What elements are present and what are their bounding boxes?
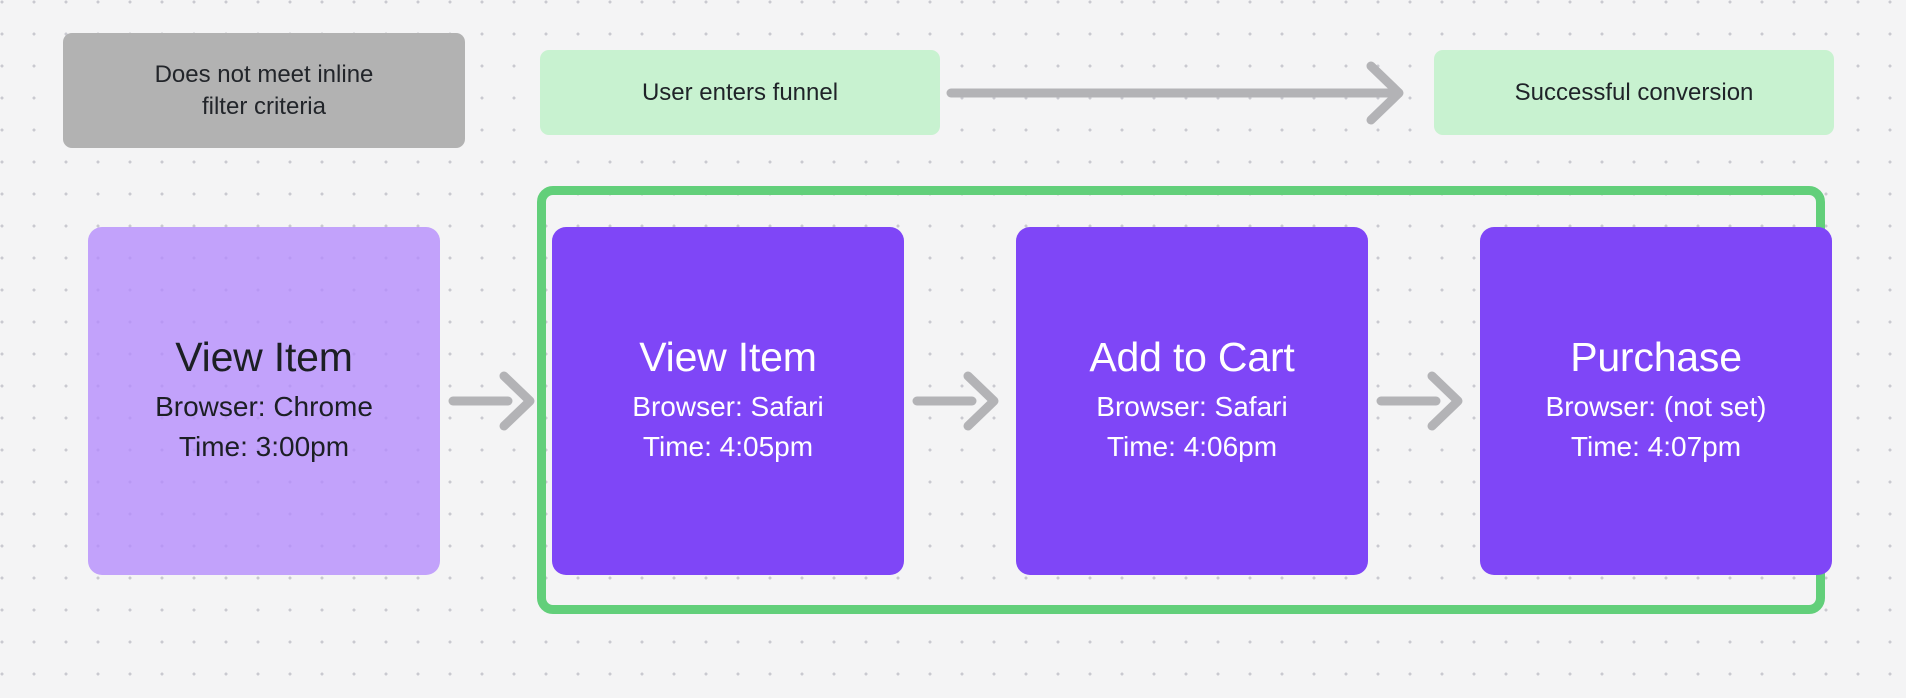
event-card-purchase[interactable]: Purchase Browser: (not set) Time: 4:07pm (1480, 227, 1832, 575)
event-card-view-item[interactable]: View Item Browser: Safari Time: 4:05pm (552, 227, 904, 575)
event-card-time: Time: 4:06pm (1107, 427, 1277, 467)
event-card-browser: Browser: Safari (632, 387, 823, 427)
legend-chip-excluded: Does not meet inline filter criteria (63, 33, 465, 148)
arrow-step-0-to-1-icon (448, 370, 536, 432)
arrow-step-2-to-3-icon (1376, 370, 1464, 432)
event-card-time: Time: 4:05pm (643, 427, 813, 467)
legend-flow-arrow-icon (946, 60, 1428, 126)
event-card-time: Time: 4:07pm (1571, 427, 1741, 467)
diagram-canvas: Does not meet inline filter criteria Use… (0, 0, 1906, 698)
arrow-step-1-to-2-icon (912, 370, 1000, 432)
event-card-browser: Browser: Safari (1096, 387, 1287, 427)
legend-chip-excluded-label: Does not meet inline filter criteria (155, 59, 374, 123)
legend-chip-user-enters-funnel-label: User enters funnel (642, 77, 838, 109)
event-card-view-item-excluded[interactable]: View Item Browser: Chrome Time: 3:00pm (88, 227, 440, 575)
event-card-title: View Item (175, 335, 352, 381)
event-card-title: View Item (639, 335, 816, 381)
event-card-time: Time: 3:00pm (179, 427, 349, 467)
event-card-browser: Browser: (not set) (1546, 387, 1767, 427)
legend-chip-successful-conversion-label: Successful conversion (1515, 77, 1754, 109)
event-card-browser: Browser: Chrome (155, 387, 373, 427)
legend-chip-successful-conversion: Successful conversion (1434, 50, 1834, 135)
event-card-add-to-cart[interactable]: Add to Cart Browser: Safari Time: 4:06pm (1016, 227, 1368, 575)
legend-chip-user-enters-funnel: User enters funnel (540, 50, 940, 135)
event-card-title: Add to Cart (1089, 335, 1294, 381)
event-card-title: Purchase (1570, 335, 1742, 381)
